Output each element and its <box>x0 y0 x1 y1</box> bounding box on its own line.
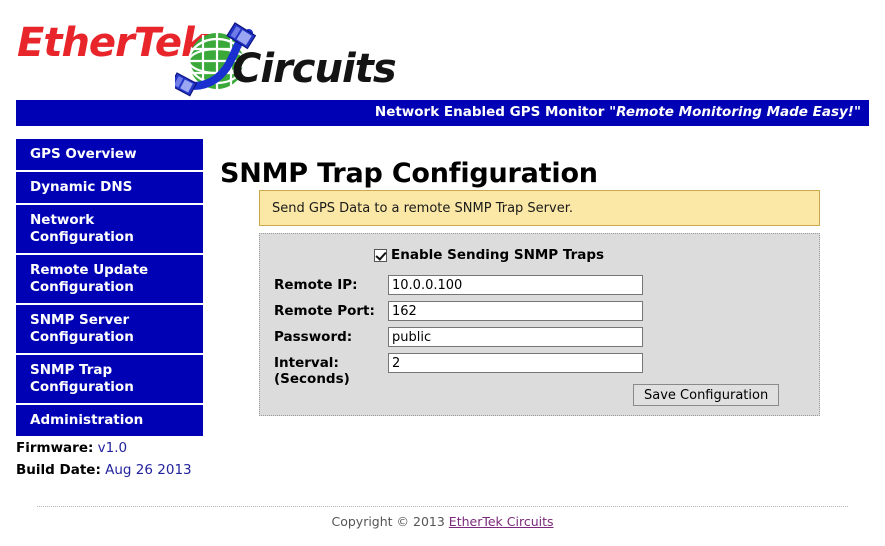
sidebar-nav: GPS Overview Dynamic DNS Network Configu… <box>16 139 203 438</box>
sidebar-item-label: Administration <box>30 412 203 429</box>
firmware-info: Firmware: v1.0 Build Date: Aug 26 2013 <box>16 437 236 481</box>
interval-label-line2: (Seconds) <box>274 371 350 387</box>
password-label: Password: <box>274 329 352 345</box>
sidebar-item-gps-overview[interactable]: GPS Overview <box>16 139 203 172</box>
snmp-trap-form-panel: Enable Sending SNMP Traps Remote IP: Rem… <box>259 233 820 416</box>
build-date-row: Build Date: Aug 26 2013 <box>16 459 236 481</box>
remote-ip-input[interactable] <box>388 275 643 295</box>
sidebar-item-label: Dynamic DNS <box>30 179 203 196</box>
remote-port-label: Remote Port: <box>274 303 375 319</box>
footer-copyright: Copyright © 2013 EtherTek Circuits <box>0 514 885 529</box>
interval-label: Interval: (Seconds) <box>274 355 350 387</box>
sidebar-item-label-line2: Configuration <box>30 229 203 246</box>
sidebar-item-administration[interactable]: Administration <box>16 405 203 438</box>
remote-port-input[interactable] <box>388 301 643 321</box>
sidebar-item-label-line2: Configuration <box>30 329 203 346</box>
sidebar-item-dynamic-dns[interactable]: Dynamic DNS <box>16 172 203 205</box>
sidebar-item-label: Network <box>30 212 203 229</box>
sidebar-item-label: Remote Update <box>30 262 203 279</box>
sidebar-item-label: GPS Overview <box>30 146 203 163</box>
sidebar-item-snmp-trap-configuration[interactable]: SNMP Trap Configuration <box>16 355 203 405</box>
sidebar-item-remote-update-configuration[interactable]: Remote Update Configuration <box>16 255 203 305</box>
sidebar-item-label: SNMP Server <box>30 312 203 329</box>
footer-divider <box>37 506 848 507</box>
enable-traps-checkbox[interactable] <box>374 249 387 262</box>
remote-ip-label: Remote IP: <box>274 277 358 293</box>
sidebar-item-network-configuration[interactable]: Network Configuration <box>16 205 203 255</box>
firmware-label: Firmware: <box>16 440 93 456</box>
tagline-product: Network Enabled GPS Monitor <box>375 104 604 120</box>
site-header: EtherTek Circuits <box>0 0 885 96</box>
sidebar-item-label-line2: Configuration <box>30 279 203 296</box>
ethertek-circuits-link[interactable]: EtherTek Circuits <box>449 514 554 529</box>
enable-traps-label: Enable Sending SNMP Traps <box>391 247 604 263</box>
interval-seconds-input[interactable] <box>388 353 643 373</box>
sidebar-item-label: SNMP Trap <box>30 362 203 379</box>
info-banner: Send GPS Data to a remote SNMP Trap Serv… <box>259 190 820 226</box>
info-banner-text: Send GPS Data to a remote SNMP Trap Serv… <box>272 201 573 216</box>
tagline-text: Network Enabled GPS Monitor "Remote Moni… <box>375 104 861 120</box>
save-configuration-button[interactable]: Save Configuration <box>633 384 779 406</box>
firmware-row: Firmware: v1.0 <box>16 437 236 459</box>
password-input[interactable] <box>388 327 643 347</box>
build-date-label: Build Date: <box>16 462 101 478</box>
interval-label-line1: Interval: <box>274 355 339 371</box>
page-title: SNMP Trap Configuration <box>220 158 598 189</box>
enable-traps-row[interactable]: Enable Sending SNMP Traps <box>374 247 604 263</box>
tagline-slogan: "Remote Monitoring Made Easy!" <box>609 104 861 120</box>
build-date-value: Aug 26 2013 <box>105 462 191 478</box>
tagline-bar: Network Enabled GPS Monitor "Remote Moni… <box>16 100 869 126</box>
copyright-text: Copyright © 2013 <box>331 514 448 529</box>
sidebar-item-snmp-server-configuration[interactable]: SNMP Server Configuration <box>16 305 203 355</box>
sidebar-item-label-line2: Configuration <box>30 379 203 396</box>
logo-text-circuits: Circuits <box>232 46 396 92</box>
firmware-value: v1.0 <box>98 440 127 456</box>
